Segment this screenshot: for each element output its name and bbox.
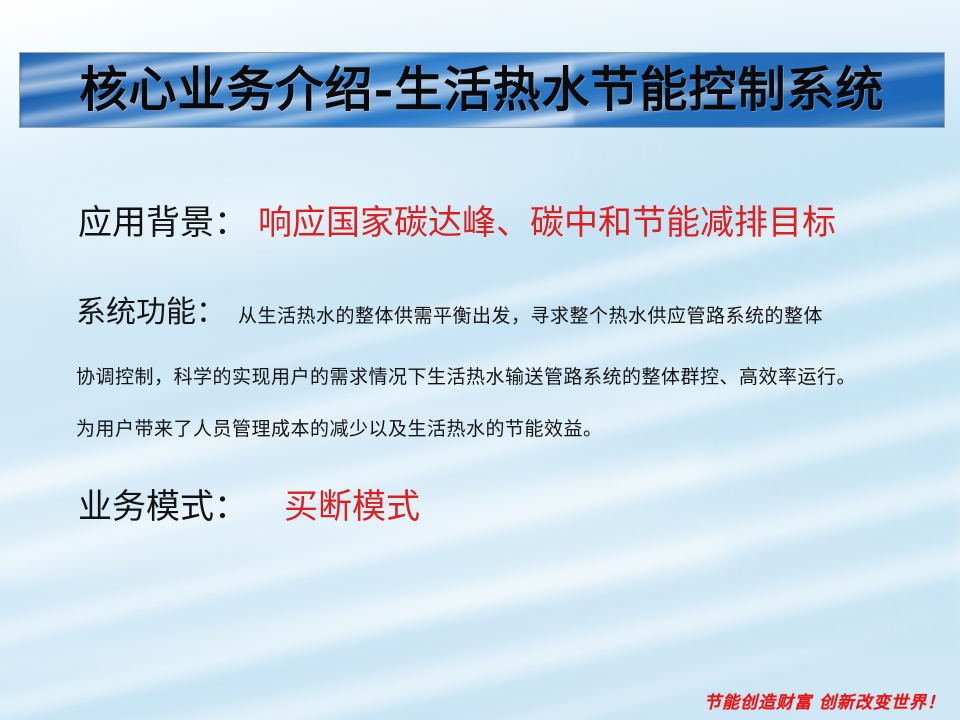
business-mode-label: 业务模式： [78,487,248,527]
system-function-label: 系统功能： [76,295,226,330]
slide-title: 核心业务介绍-生活热水节能控制系统 [80,66,885,114]
application-background-label: 应用背景： [78,203,248,243]
title-banner: 核心业务介绍-生活热水节能控制系统 [19,52,945,128]
application-background-value: 响应国家碳达峰、碳中和节能减排目标 [258,203,836,243]
section-business-mode: 业务模式：买断模式 [78,490,420,524]
system-function-line-1: 从生活热水的整体供需平衡出发，寻求整个热水供应管路系统的整体 [238,305,823,327]
system-function-line-2: 协调控制，科学的实现用户的需求情况下生活热水输送管路系统的整体群控、高效率运行。 [76,368,856,387]
section-application-background: 应用背景：响应国家碳达峰、碳中和节能减排目标 [78,206,836,240]
system-function-line-3: 为用户带来了人员管理成本的减少以及生活热水的节能效益。 [76,420,603,439]
footer-slogan: 节能创造财富 创新改变世界！ [704,695,945,712]
slide-canvas: 核心业务介绍-生活热水节能控制系统 应用背景：响应国家碳达峰、碳中和节能减排目标… [0,0,960,720]
section-system-function: 系统功能：从生活热水的整体供需平衡出发，寻求整个热水供应管路系统的整体 [76,298,823,328]
business-mode-value: 买断模式 [284,487,420,527]
